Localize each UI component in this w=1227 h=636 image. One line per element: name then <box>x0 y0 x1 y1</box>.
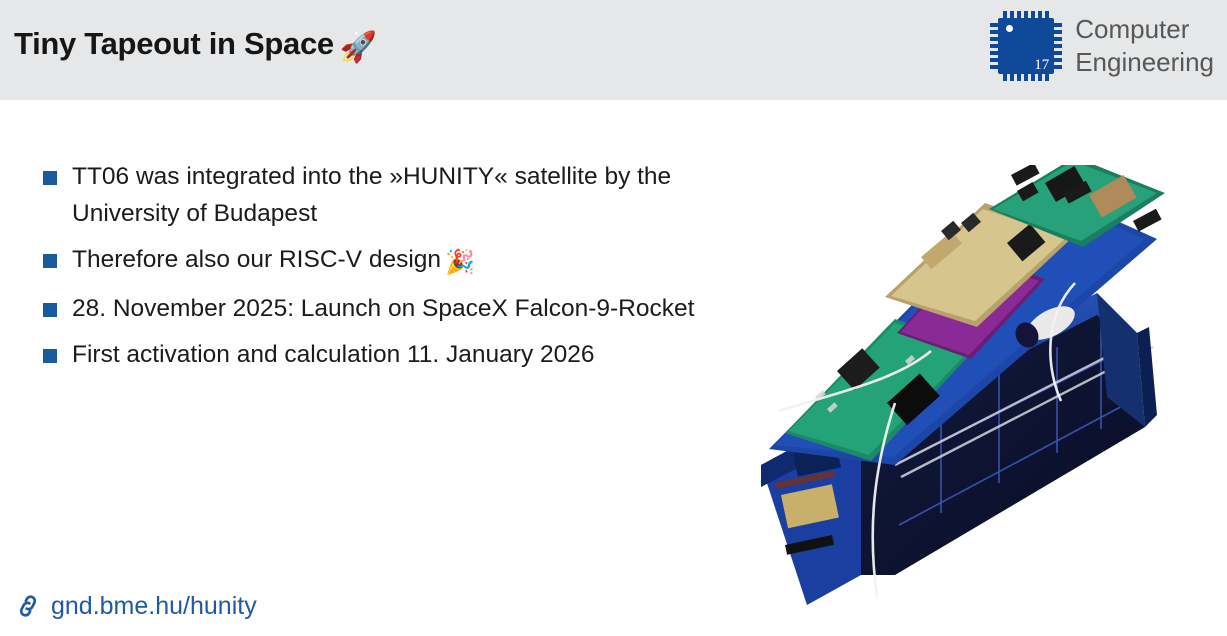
bullet-marker-icon <box>43 303 57 317</box>
page-title-text: Tiny Tapeout in Space <box>14 26 334 61</box>
list-item-text: First activation and calculation 11. Jan… <box>72 341 595 368</box>
logo-line-2: Engineering <box>1075 46 1214 79</box>
bullet-marker-icon <box>43 171 57 185</box>
list-item-text: Therefore also our RISC-V design <box>72 246 441 273</box>
bullet-list: TT06 was integrated into the »HUNITY« sa… <box>40 158 720 382</box>
chip-icon: 17 <box>989 9 1063 83</box>
list-item: 28. November 2025: Launch on SpaceX Falc… <box>40 290 720 327</box>
footer-url-text[interactable]: gnd.bme.hu/hunity <box>51 592 257 620</box>
slide-number: 17 <box>1034 58 1049 73</box>
satellite-image <box>745 165 1225 615</box>
brand-logo: 17 Computer Engineering <box>989 9 1214 83</box>
bullet-marker-icon <box>43 349 57 363</box>
list-item: First activation and calculation 11. Jan… <box>40 336 720 373</box>
rocket-emoji-icon: 🚀 <box>340 31 377 64</box>
list-item: TT06 was integrated into the »HUNITY« sa… <box>40 158 720 232</box>
chip-orientation-dot-icon <box>1006 25 1013 32</box>
list-item: Therefore also our RISC-V design🎉 <box>40 241 720 281</box>
chip-body: 17 <box>998 18 1054 74</box>
list-item-text: 28. November 2025: Launch on SpaceX Falc… <box>72 295 694 322</box>
party-popper-emoji-icon: 🎉 <box>445 249 475 276</box>
footer-link[interactable]: gnd.bme.hu/hunity <box>14 592 257 620</box>
slide: Tiny Tapeout in Space🚀 <box>0 0 1227 636</box>
link-icon <box>14 592 42 620</box>
list-item-text: TT06 was integrated into the »HUNITY« sa… <box>72 163 671 227</box>
bullet-marker-icon <box>43 254 57 268</box>
page-title: Tiny Tapeout in Space🚀 <box>14 22 377 70</box>
logo-text: Computer Engineering <box>1075 13 1214 79</box>
logo-line-1: Computer <box>1075 13 1214 46</box>
